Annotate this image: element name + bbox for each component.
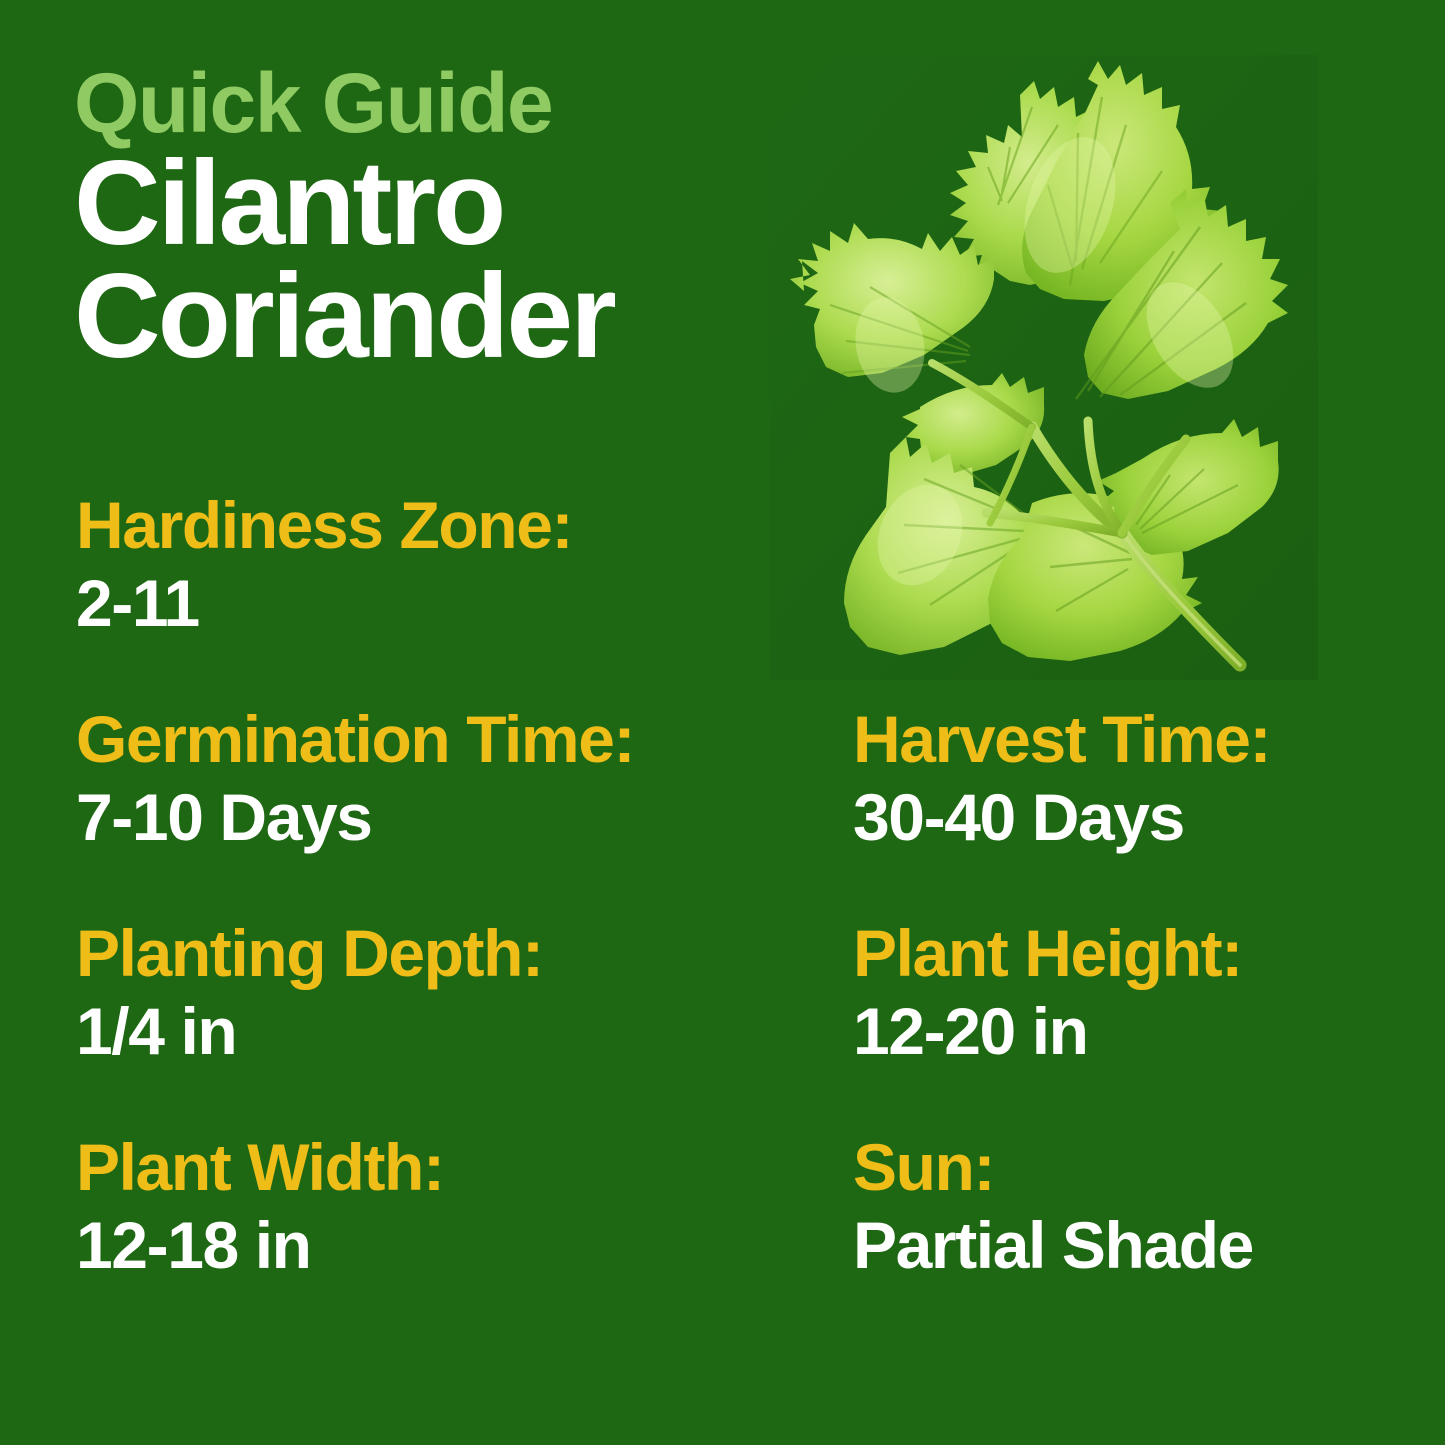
eyebrow-quick-guide: Quick Guide	[74, 62, 774, 144]
spec-value: 12-18 in	[76, 1212, 816, 1278]
spec-label: Germination Time:	[76, 706, 816, 772]
spec-grid: Hardiness Zone: 2-11 Germination Time: 7…	[0, 492, 1445, 1348]
spec-row: Plant Width: 12-18 in Sun: Partial Shade	[0, 1134, 1445, 1348]
title-block: Quick Guide Cilantro Coriander	[74, 62, 774, 371]
spec-label: Planting Depth:	[76, 920, 816, 986]
spec-cell-germination-time: Germination Time: 7-10 Days	[76, 706, 816, 850]
spec-label: Plant Height:	[853, 920, 1413, 986]
spec-cell-harvest-time: Harvest Time: 30-40 Days	[853, 706, 1413, 850]
spec-value: 1/4 in	[76, 998, 816, 1064]
quick-guide-infographic: Quick Guide Cilantro Coriander	[0, 0, 1445, 1445]
spec-value: 12-20 in	[853, 998, 1413, 1064]
spec-row: Planting Depth: 1/4 in Plant Height: 12-…	[0, 920, 1445, 1134]
spec-cell-planting-depth: Planting Depth: 1/4 in	[76, 920, 816, 1064]
spec-value: 30-40 Days	[853, 784, 1413, 850]
spec-cell-hardiness-zone: Hardiness Zone: 2-11	[76, 492, 816, 636]
spec-label: Hardiness Zone:	[76, 492, 816, 558]
spec-cell-plant-height: Plant Height: 12-20 in	[853, 920, 1413, 1064]
spec-label: Plant Width:	[76, 1134, 816, 1200]
spec-value: 7-10 Days	[76, 784, 816, 850]
spec-row: Hardiness Zone: 2-11	[0, 492, 1445, 706]
plant-name-line-1: Cilantro	[74, 148, 774, 258]
spec-value: 2-11	[76, 570, 816, 636]
spec-cell-plant-width: Plant Width: 12-18 in	[76, 1134, 816, 1278]
spec-cell-sun: Sun: Partial Shade	[853, 1134, 1413, 1278]
plant-name-line-2: Coriander	[74, 261, 774, 371]
spec-label: Sun:	[853, 1134, 1413, 1200]
spec-row: Germination Time: 7-10 Days Harvest Time…	[0, 706, 1445, 920]
spec-label: Harvest Time:	[853, 706, 1413, 772]
spec-value: Partial Shade	[853, 1212, 1413, 1278]
